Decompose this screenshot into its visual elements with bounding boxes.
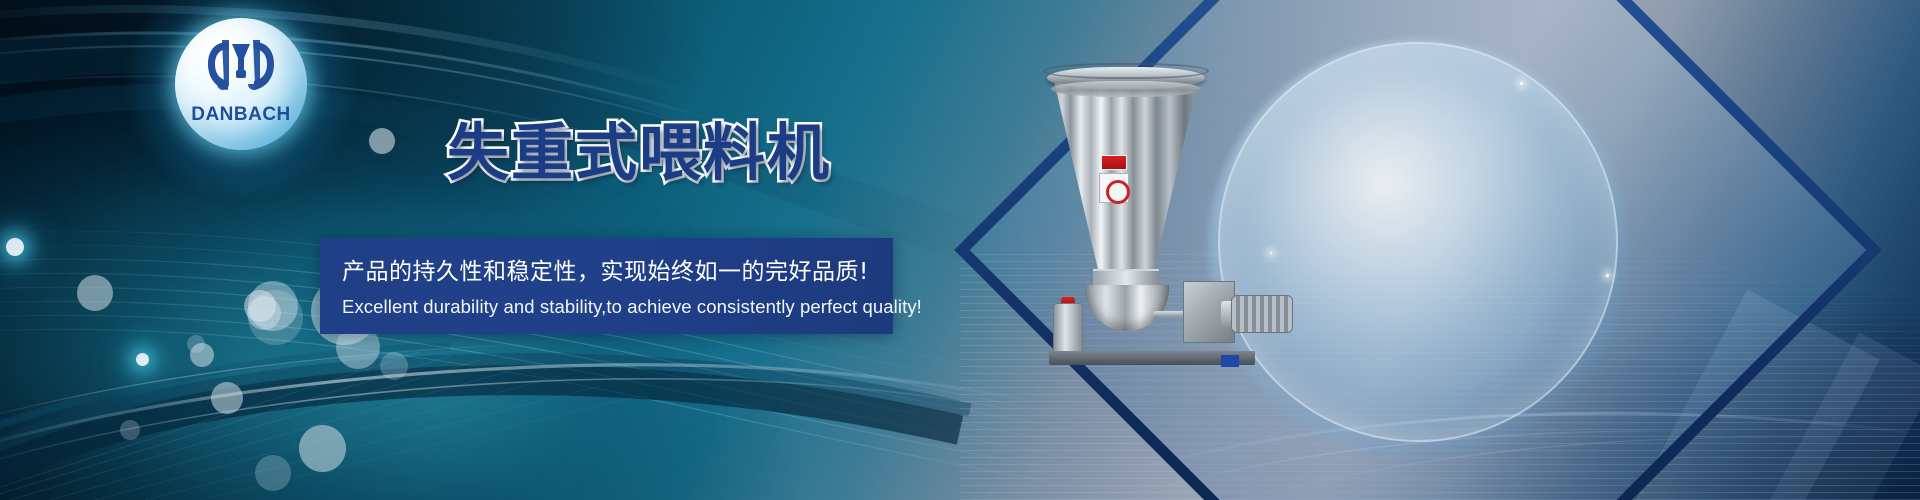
hopper-inner-rim <box>1051 81 1201 97</box>
bubble-12 <box>369 128 395 154</box>
discharge-bowl <box>1085 285 1169 331</box>
hopper-clamp-ring <box>1043 63 1209 79</box>
bubble-10 <box>380 352 408 380</box>
bubble-1 <box>77 275 113 311</box>
drive-motor <box>1231 295 1293 333</box>
loss-in-weight-feeder-image <box>1035 55 1295 355</box>
prohibition-sign-label <box>1099 173 1129 203</box>
base-foot-blue <box>1221 355 1239 367</box>
bubble-13 <box>187 335 205 353</box>
danbach-globe-logo-icon <box>175 34 307 98</box>
bubble-glow-2 <box>136 353 149 366</box>
logo-wordmark: DANBACH <box>175 104 307 126</box>
tagline-english: Excellent durability and stability,to ac… <box>342 296 893 318</box>
page-title: 失重式喂料机 <box>447 122 831 184</box>
tagline-panel: 产品的持久性和稳定性，实现始终如一的完好品质! Excellent durabi… <box>320 238 893 334</box>
sparkle-1 <box>1520 82 1523 85</box>
bubble-15 <box>255 455 291 491</box>
bubble-5 <box>211 382 243 414</box>
bubble-6 <box>299 425 346 472</box>
tagline-chinese: 产品的持久性和稳定性，实现始终如一的完好品质! <box>342 252 893 286</box>
sparkle-2 <box>1606 274 1609 277</box>
brand-logo[interactable]: DANBACH <box>175 18 307 150</box>
bubble-glow-1 <box>6 238 24 256</box>
red-warning-label <box>1101 155 1127 170</box>
bubble-16 <box>120 420 140 440</box>
bubble-11 <box>244 290 276 322</box>
load-cell-pillar <box>1053 303 1083 357</box>
product-hero-banner: DANBACH 失重式喂料机 产品的持久性和稳定性，实现始终如一的完好品质! E… <box>0 0 1920 500</box>
